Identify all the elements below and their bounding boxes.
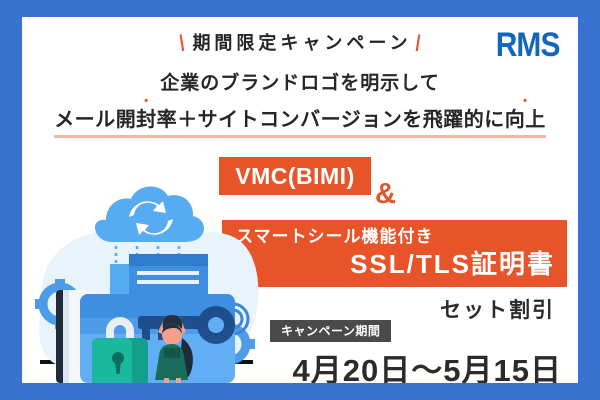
kicker-text: 期間限定キャンペーン [192, 33, 411, 53]
headline-line-2: メール開封率＋サイトコンバージョンを飛躍的に向上 [54, 103, 546, 138]
ampersand-symbol: & [375, 180, 396, 209]
headline-underline [54, 135, 546, 138]
campaign-period-badge: キャンペーン期間 [270, 320, 391, 342]
campaign-kicker: \期間限定キャンペーン/ [22, 29, 578, 55]
headline-line-1: 企業のブランドロゴを明示して [22, 68, 578, 95]
security-illustration [34, 172, 284, 383]
headline-2-emphasis-b: 向上 [505, 109, 546, 131]
kicker-slash-left-icon: \ [179, 30, 184, 56]
headline-2-emphasis-a: 開封率 [116, 109, 178, 131]
banner-canvas: RMS \期間限定キャンペーン/ 企業のブランドロゴを明示して メール開封率＋サ… [22, 17, 578, 383]
campaign-banner: RMS \期間限定キャンペーン/ 企業のブランドロゴを明示して メール開封率＋サ… [0, 0, 600, 400]
headline-2-part-c: ＋サイトコンバージョンを飛躍的に [177, 109, 505, 131]
cloud-sync-icon [95, 187, 204, 242]
kicker-slash-right-icon: / [416, 30, 421, 56]
badge-ssl-subtitle: スマートシール機能付き [236, 226, 557, 248]
badge-ssl-title: SSL/TLS証明書 [236, 248, 557, 281]
headline-2-part-a: メール [54, 109, 116, 131]
headline-line-2-wrapper: メール開封率＋サイトコンバージョンを飛躍的に向上 [22, 103, 578, 138]
